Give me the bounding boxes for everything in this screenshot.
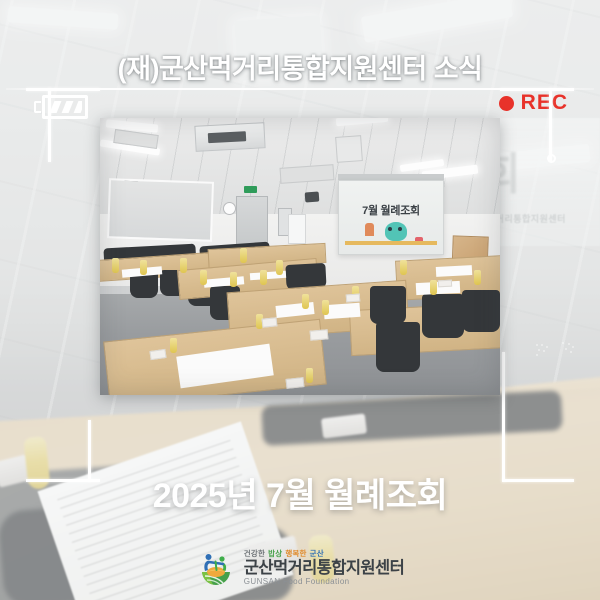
logo-tagline: 건강한 밥상 행복한 군산 — [244, 550, 404, 558]
corner-bracket-top-right — [500, 88, 574, 162]
caption-text: 2025년 7월 월례조회 — [0, 468, 600, 517]
decor-dots-left — [536, 344, 552, 360]
wall-clock-icon — [223, 202, 236, 215]
decor-dots-right — [562, 342, 578, 358]
page-title: (재)군산먹거리통합지원센터 소식 — [0, 47, 600, 86]
main-photo: 7월 월례조회 — [100, 118, 500, 395]
logo-tagline-4: 군산 — [310, 550, 324, 558]
news-card: 조회 건강한 군산먹거리통합지원센터 (재)군산먹거리통합지원센터 소식 REC — [0, 0, 600, 600]
logo-tagline-2: 밥상 — [268, 550, 282, 558]
gunsan-food-foundation-logo-icon — [196, 548, 236, 588]
ceiling-projector-icon — [194, 122, 265, 152]
logo-tagline-1: 건강한 — [244, 550, 265, 558]
footer-logo: 건강한 밥상 행복한 군산 군산먹거리통합지원센터 GUNSAN Food Fo… — [0, 548, 600, 588]
logo-tagline-3: 행복한 — [285, 550, 306, 558]
exit-sign-icon — [244, 186, 257, 193]
org-name-en: GUNSAN Food Foundation — [244, 578, 404, 586]
projection-screen: 7월 월례조회 — [338, 180, 444, 255]
corner-bracket-top-left — [26, 88, 100, 162]
projection-screen-title: 7월 월례조회 — [339, 202, 443, 218]
green-mascot-icon — [385, 222, 407, 241]
corner-bracket-bottom-right — [502, 352, 574, 482]
org-name: 군산먹거리통합지원센터 — [244, 560, 404, 577]
